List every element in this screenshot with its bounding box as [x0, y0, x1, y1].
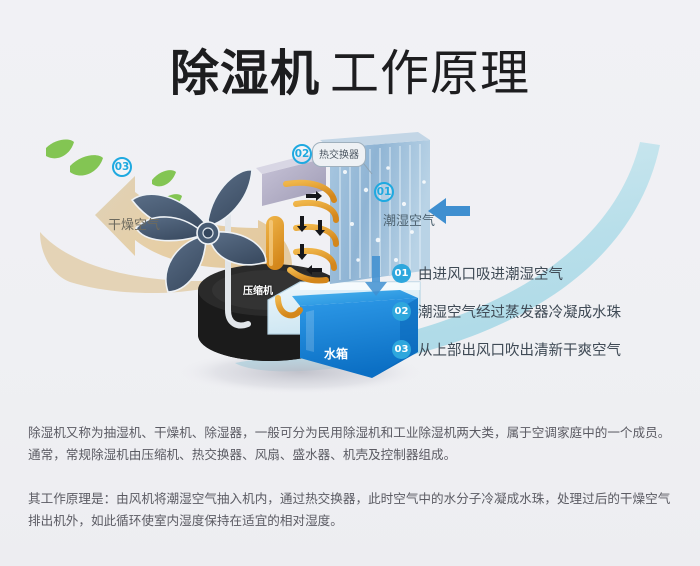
label-humid-air: 潮湿空气 — [383, 210, 435, 229]
paragraph-2-line-2: 排出机外，如此循环使室内湿度保持在适宜的相对湿度。 — [28, 510, 676, 532]
label-water-tank: 水箱 — [324, 345, 348, 362]
diagram-badge-02: 02 — [292, 144, 312, 164]
diagram-badge-03: 03 — [112, 157, 132, 177]
legend-text-02: 潮湿空气经过蒸发器冷凝成水珠 — [418, 301, 621, 322]
compressor-icon — [266, 216, 284, 270]
page-title: 除湿机工作原理 — [0, 34, 700, 105]
heat-exchanger-callout: 热交换器 — [312, 142, 366, 167]
body-paragraph-1: 除湿机又称为抽湿机、干燥机、除湿器，一般可分为民用除湿机和工业除湿机两大类，属于… — [28, 422, 676, 466]
legend-badge-03: 03 — [392, 340, 411, 359]
diagram-badge-01: 01 — [374, 182, 394, 202]
legend-badge-02: 02 — [392, 302, 411, 321]
legend-item: 03 从上部出风口吹出清新干爽空气 — [392, 330, 692, 368]
legend-text-03: 从上部出风口吹出清新干爽空气 — [418, 339, 621, 360]
legend-item: 02 潮湿空气经过蒸发器冷凝成水珠 — [392, 292, 692, 330]
paragraph-1-line-1: 除湿机又称为抽湿机、干燥机、除湿器，一般可分为民用除湿机和工业除湿机两大类，属于… — [28, 422, 676, 444]
legend-badge-01: 01 — [392, 264, 411, 283]
legend-text-01: 由进风口吸进潮湿空气 — [418, 263, 563, 284]
paragraph-1-line-2: 通常，常规除湿机由压缩机、热交换器、风扇、盛水器、机壳及控制器组成。 — [28, 444, 676, 466]
infographic-page: 除湿机工作原理 — [0, 0, 700, 566]
page-title-primary: 除湿机 — [170, 45, 320, 102]
label-compressor: 压缩机 — [243, 282, 273, 297]
paragraph-2-line-1: 其工作原理是：由风机将潮湿空气抽入机内，通过热交换器，此时空气中的水分子冷凝成水… — [28, 488, 676, 510]
legend-item: 01 由进风口吸进潮湿空气 — [392, 254, 692, 292]
body-paragraph-2: 其工作原理是：由风机将潮湿空气抽入机内，通过热交换器，此时空气中的水分子冷凝成水… — [28, 488, 676, 532]
label-heat-exchanger: 热交换器 — [319, 150, 359, 161]
page-title-secondary: 工作原理 — [330, 45, 530, 102]
label-dry-air: 干燥空气 — [108, 214, 160, 233]
legend-list: 01 由进风口吸进潮湿空气 02 潮湿空气经过蒸发器冷凝成水珠 03 从上部出风… — [392, 254, 692, 368]
